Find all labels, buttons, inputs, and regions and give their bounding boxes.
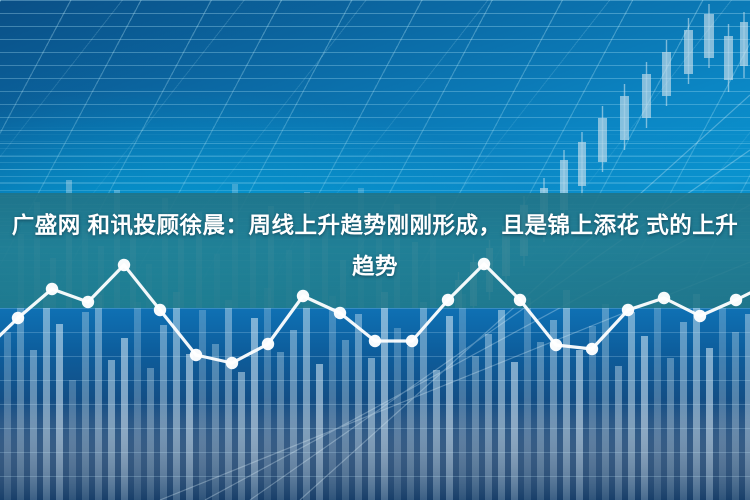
page-title-line-1: 广盛网 和讯投顾徐晨：周线上升趋势刚刚形成，且是锦上添花 <box>12 213 640 238</box>
page-title: 广盛网 和讯投顾徐晨：周线上升趋势刚刚形成，且是锦上添花 式的上升趋势 <box>0 205 750 287</box>
stock-banner-image: 广盛网 和讯投顾徐晨：周线上升趋势刚刚形成，且是锦上添花 式的上升趋势 <box>0 0 750 500</box>
